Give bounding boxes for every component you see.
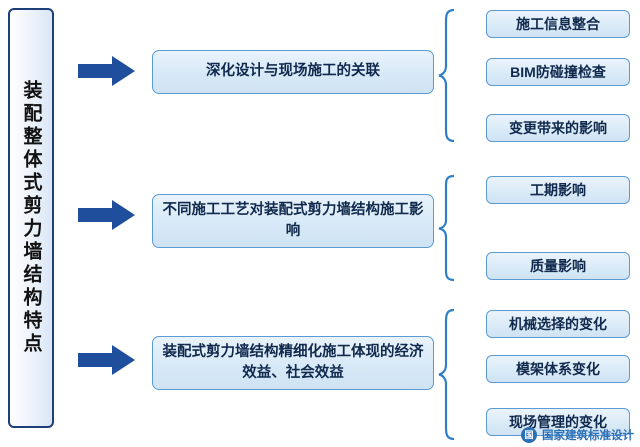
brace-branch-1 xyxy=(438,8,456,148)
leaf-node-3-2: 模架体系变化 xyxy=(486,355,630,383)
arrow-to-branch-1 xyxy=(78,56,136,86)
leaf-node-2-1: 工期影响 xyxy=(486,176,630,204)
branch-node-3: 装配式剪力墙结构精细化施工体现的经济效益、社会效益 xyxy=(152,336,434,390)
leaf-node-2-2: 质量影响 xyxy=(486,252,630,280)
leaf-node-1-3-label: 变更带来的影响 xyxy=(509,119,607,137)
root-node: 装配整体式剪力墙结构特点 xyxy=(8,8,54,428)
leaf-node-1-3: 变更带来的影响 xyxy=(486,114,630,142)
leaf-node-3-2-label: 模架体系变化 xyxy=(516,360,600,378)
watermark: 国 国家建筑标准设计 xyxy=(521,427,634,443)
root-node-label: 装配整体式剪力墙结构特点 xyxy=(22,80,41,356)
branch-node-2-label: 不同施工工艺对装配式剪力墙结构施工影响 xyxy=(161,200,425,242)
arrow-to-branch-2 xyxy=(78,200,136,230)
leaf-node-2-2-label: 质量影响 xyxy=(530,257,586,275)
leaf-node-1-1-label: 施工信息整合 xyxy=(516,15,600,33)
branch-node-1-label: 深化设计与现场施工的关联 xyxy=(206,61,380,82)
branch-node-2: 不同施工工艺对装配式剪力墙结构施工影响 xyxy=(152,194,434,248)
diagram-canvas: 装配整体式剪力墙结构特点 深化设计与现场施工的关联 施工信息整合 BIM防碰撞检… xyxy=(0,0,640,447)
leaf-node-3-1-label: 机械选择的变化 xyxy=(509,315,607,333)
watermark-label: 国家建筑标准设计 xyxy=(542,427,634,443)
leaf-node-1-2: BIM防碰撞检查 xyxy=(486,58,630,86)
branch-node-3-label: 装配式剪力墙结构精细化施工体现的经济效益、社会效益 xyxy=(161,342,425,384)
leaf-node-2-1-label: 工期影响 xyxy=(530,181,586,199)
leaf-node-1-2-label: BIM防碰撞检查 xyxy=(510,63,606,81)
brace-branch-3 xyxy=(438,308,456,446)
brace-branch-2 xyxy=(438,174,456,287)
arrow-to-branch-3 xyxy=(78,345,136,375)
leaf-node-3-1: 机械选择的变化 xyxy=(486,310,630,338)
leaf-node-1-1: 施工信息整合 xyxy=(486,10,630,38)
watermark-logo-icon: 国 xyxy=(521,427,537,443)
branch-node-1: 深化设计与现场施工的关联 xyxy=(152,50,434,94)
